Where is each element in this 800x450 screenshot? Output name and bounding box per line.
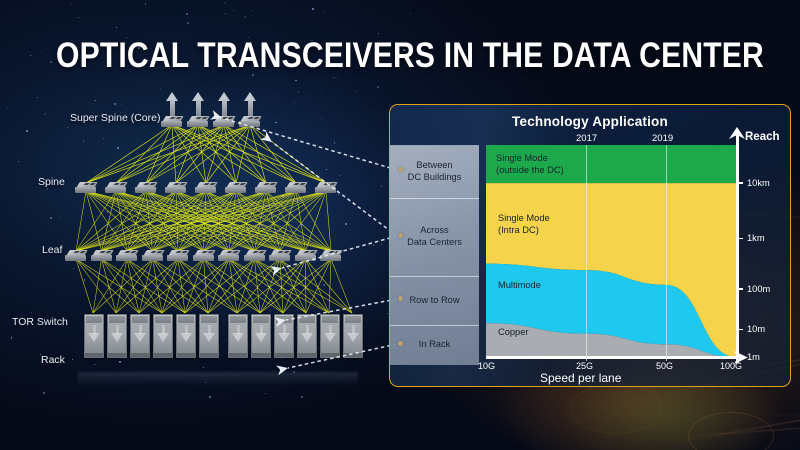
uplink-arrow (166, 92, 179, 118)
spine-switch (135, 182, 157, 193)
server-rack (84, 314, 104, 358)
spine-switch (195, 182, 217, 193)
server-rack (228, 314, 248, 358)
spine-switch (285, 182, 307, 193)
spine-switch (75, 182, 97, 193)
background-star (30, 55, 31, 56)
floor-reflection (78, 372, 358, 386)
spine-switch (165, 182, 187, 193)
year-mark-2017: 2017 (576, 133, 597, 144)
reach-tick-label: 1km (747, 233, 765, 243)
category-across-data-centers: AcrossData Centers (390, 198, 479, 276)
slide-root: OPTICAL TRANSCEIVERS IN THE DATA CENTER (0, 0, 800, 450)
leaf-switch (65, 250, 87, 261)
category-label: AcrossData Centers (407, 225, 462, 248)
category-row-to-row: Row to Row (390, 276, 479, 325)
category-panel: BetweenDC Buildings AcrossData Centers R… (390, 145, 479, 365)
leaf-switch (269, 250, 291, 261)
speed-tick-label: 25G (576, 361, 593, 371)
leaf-switch (116, 250, 138, 261)
reach-tick (739, 356, 743, 358)
callout-dot-across-dc (398, 233, 403, 238)
gridline-2019 (666, 145, 667, 357)
server-rack (130, 314, 150, 358)
background-star (41, 52, 42, 53)
server-rack (107, 314, 127, 358)
diagram-label-super-spine: Super Spine (Core) (70, 112, 160, 124)
reach-tick-label: 10m (747, 324, 765, 334)
reach-tick-label: 100m (747, 284, 770, 294)
background-star (410, 13, 411, 14)
callout-dot-row-to-row (398, 296, 403, 301)
server-rack (297, 314, 317, 358)
reach-axis-title: Reach (745, 131, 780, 143)
series-label-multimode: Multimode (498, 280, 608, 292)
series-label-single-mode-outside: Single Mode(outside the DC) (496, 153, 616, 176)
super-spine-switch (161, 116, 183, 127)
stacked-area-plot: Single Mode(outside the DC) Single Mode(… (486, 145, 736, 357)
reach-tick-label: 10km (747, 178, 770, 188)
super-spine-switch (213, 116, 235, 127)
y-axis-arrow (729, 127, 745, 139)
uplink-arrow (192, 92, 205, 118)
reach-tick (739, 288, 743, 290)
plot-svg (486, 145, 736, 357)
background-star (312, 8, 314, 10)
uplink-arrow (218, 92, 231, 118)
category-label: BetweenDC Buildings (408, 160, 462, 183)
uplink-arrow (244, 92, 257, 118)
diagram-label-leaf: Leaf (42, 244, 62, 256)
category-in-rack: In Rack (390, 325, 479, 365)
diagram-label-rack: Rack (41, 354, 65, 366)
leaf-switch (218, 250, 240, 261)
background-star (381, 186, 382, 187)
server-rack (274, 314, 294, 358)
background-star (187, 22, 189, 24)
speed-tick-label: 100G (720, 361, 742, 371)
callout-dot-in-rack (398, 341, 403, 346)
page-title: OPTICAL TRANSCEIVERS IN THE DATA CENTER (56, 36, 744, 76)
speed-tick-label: 50G (656, 361, 673, 371)
leaf-switch (295, 250, 317, 261)
leaf-switch (320, 250, 342, 261)
year-mark-2019: 2019 (652, 133, 673, 144)
background-star (186, 13, 188, 15)
callout-dot-between-dc (398, 167, 403, 172)
category-label: Row to Row (409, 295, 459, 307)
server-rack (153, 314, 173, 358)
spine-switch (225, 182, 247, 193)
technology-application-panel: Technology Application 2017 2019 Reach B… (389, 104, 791, 387)
background-star (224, 2, 226, 4)
diagram-label-tor-switch: TOR Switch (12, 316, 68, 328)
leaf-switch (91, 250, 113, 261)
server-rack (176, 314, 196, 358)
server-rack (199, 314, 219, 358)
background-star (323, 12, 324, 13)
super-spine-switch (187, 116, 209, 127)
leaf-switch (193, 250, 215, 261)
background-star (381, 244, 382, 245)
background-star (382, 298, 383, 299)
diagram-label-spine: Spine (38, 176, 65, 188)
slide-footer: intel INTERCONNECT DAY APRIL 2019 Source… (0, 394, 800, 450)
leaf-switch (142, 250, 164, 261)
gridline-2017 (586, 145, 587, 357)
server-rack (343, 314, 363, 358)
leaf-switch (244, 250, 266, 261)
spine-switch (105, 182, 127, 193)
reach-tick (739, 182, 743, 184)
super-spine-switch (239, 116, 261, 127)
category-between-dc-buildings: BetweenDC Buildings (390, 146, 479, 198)
spine-switch (255, 182, 277, 193)
x-axis-line (486, 356, 738, 359)
reach-tick (739, 238, 743, 240)
series-label-single-mode-intra: Single Mode(Intra DC) (498, 213, 608, 236)
server-rack (251, 314, 271, 358)
reach-tick (739, 329, 743, 331)
reach-tick-label: 1m (747, 352, 760, 362)
x-axis-title: Speed per lane (540, 371, 621, 385)
category-label: In Rack (419, 339, 451, 351)
background-star (116, 27, 117, 28)
server-rack (320, 314, 340, 358)
spine-switch (315, 182, 337, 193)
speed-tick-label: 10G (478, 361, 495, 371)
leaf-switch (167, 250, 189, 261)
network-topology-diagram: Super Spine (Core) Spine Leaf TOR Switch… (0, 84, 380, 384)
series-label-copper: Copper (498, 327, 608, 339)
